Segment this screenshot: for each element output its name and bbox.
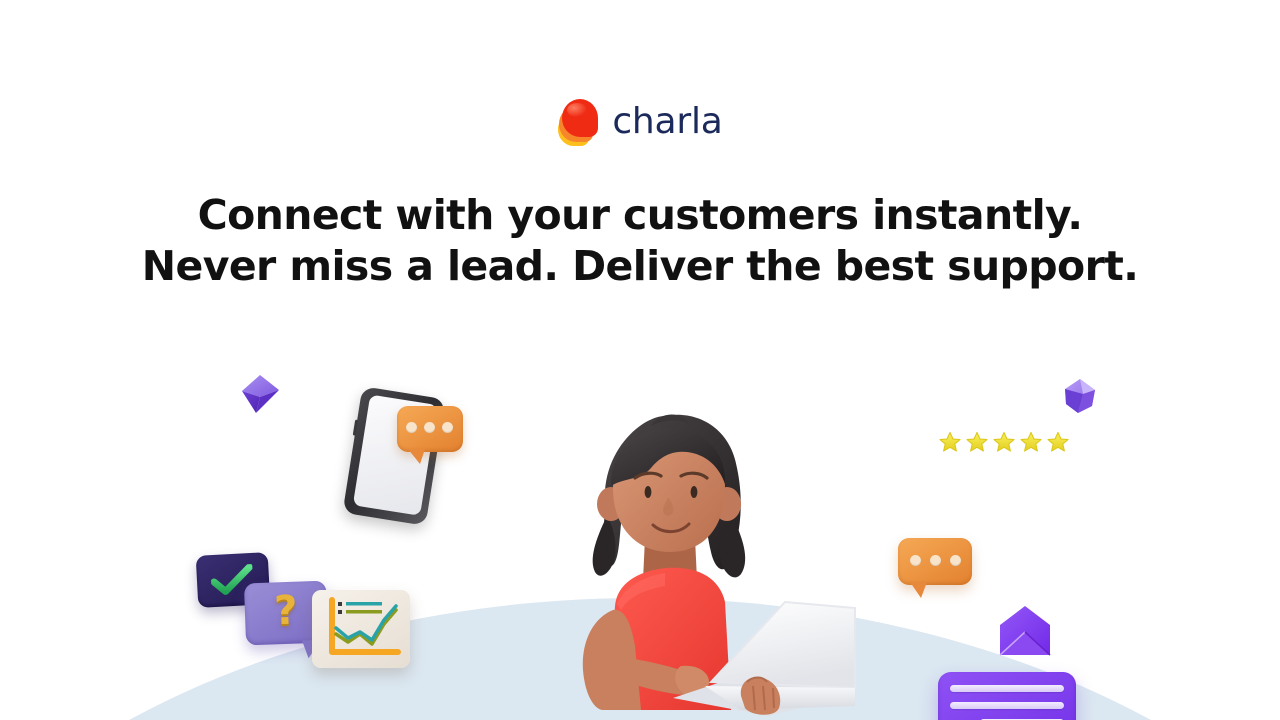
page-title: Connect with your customers instantly. N… <box>0 190 1280 292</box>
message-line <box>950 685 1064 692</box>
chat-bubble-typing-icon-top-right <box>898 538 972 585</box>
star-icon <box>1046 430 1070 454</box>
headline-line-2: Never miss a lead. Deliver the best supp… <box>0 241 1280 292</box>
purple-octahedron-icon <box>239 373 281 415</box>
headline-line-1: Connect with your customers instantly. <box>0 190 1280 241</box>
brand-lockup[interactable]: charla <box>0 99 1280 147</box>
typing-dot <box>424 422 435 433</box>
line-chart-icon <box>312 590 410 668</box>
typing-dot <box>442 422 453 433</box>
envelope-icon <box>996 605 1054 657</box>
star-icon <box>992 430 1016 454</box>
star-icon <box>1019 430 1043 454</box>
star-icon <box>965 430 989 454</box>
charla-speech-bubble-logo-icon <box>557 99 599 147</box>
support-agent-character <box>555 410 875 720</box>
typing-dot <box>930 555 941 566</box>
brand-wordmark: charla <box>612 104 722 143</box>
rating-stars <box>938 430 1070 454</box>
hero-page: charla Connect with your customers insta… <box>0 0 1280 720</box>
chat-bubble-message-icon <box>938 672 1076 720</box>
purple-octahedron-icon-right <box>1063 378 1097 414</box>
chat-bubble-typing-icon-phone <box>397 406 463 452</box>
illustration-alt-text: 3D illustration of a support agent using… <box>0 326 1 327</box>
typing-dot <box>910 555 921 566</box>
typing-dot <box>950 555 961 566</box>
typing-dot <box>406 422 417 433</box>
star-icon <box>938 430 962 454</box>
message-line <box>950 702 1064 709</box>
